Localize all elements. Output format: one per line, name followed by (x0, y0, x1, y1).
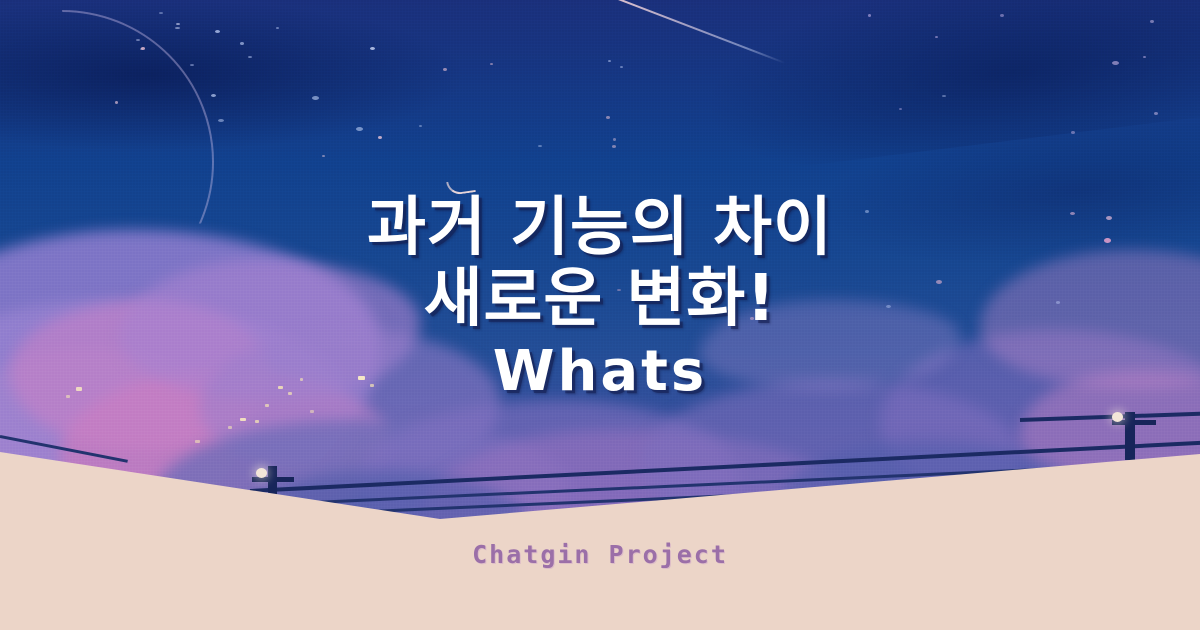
poster-canvas: 과거 기능의 차이 새로운 변화! Whats Chatgin Project (0, 0, 1200, 630)
brand-label: Chatgin Project (0, 540, 1200, 569)
